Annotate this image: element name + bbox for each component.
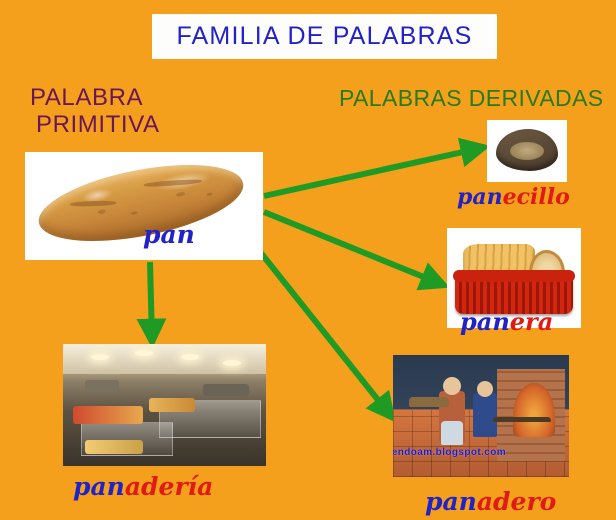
baker-illustration-photo: aprendoam.blogspot.com [393,355,569,477]
panaderia-image-card[interactable] [63,344,266,466]
panadero-suffix: adero [477,487,556,516]
arrow-to-panecillo [264,148,481,196]
bread-roll-photo [496,129,558,171]
bread-shelf [409,397,449,407]
heading-palabra-primitiva: PALABRA PRIMITIVA [30,84,160,138]
baker-two-body [473,393,497,437]
panadero-image-card[interactable]: aprendoam.blogspot.com [393,355,569,477]
heading-palabras-derivadas: PALABRAS DERIVADAS [339,85,604,112]
panera-suffix: era [510,307,553,336]
title-box: FAMILIA DE PALABRAS [152,14,497,59]
panecillo-image-card[interactable] [487,120,567,182]
watermark-text: aprendoam.blogspot.com [393,447,569,458]
word-panera: panera [460,307,553,336]
panadero-root: pan [425,487,477,516]
heading-primitive-line1: PALABRA [30,84,160,111]
baker-one-apron [441,421,463,445]
baker-two-head [477,381,493,397]
word-panaderia: panadería [73,472,213,501]
word-panecillo: panecillo [457,184,570,210]
word-panadero: panadero [425,487,556,516]
bakery-shop-photo [63,344,266,466]
peel-paddle [493,417,551,422]
panecillo-root: pan [457,184,503,210]
arrow-to-panaderia [150,262,152,339]
primitive-word-card[interactable]: pan [25,152,263,260]
arrow-to-panadero [261,253,390,415]
heading-primitive-line2: PRIMITIVA [30,111,160,138]
arrow-to-panera [264,212,441,284]
page-title: FAMILIA DE PALABRAS [176,22,472,51]
panaderia-root: pan [73,472,125,501]
primitive-word-label: pan [143,220,195,249]
panaderia-suffix: adería [125,472,213,501]
word-family-poster: FAMILIA DE PALABRAS PALABRA PRIMITIVA PA… [0,0,616,520]
baker-one-head [443,377,461,395]
panecillo-suffix: ecillo [503,184,570,210]
panera-root: pan [460,307,510,336]
